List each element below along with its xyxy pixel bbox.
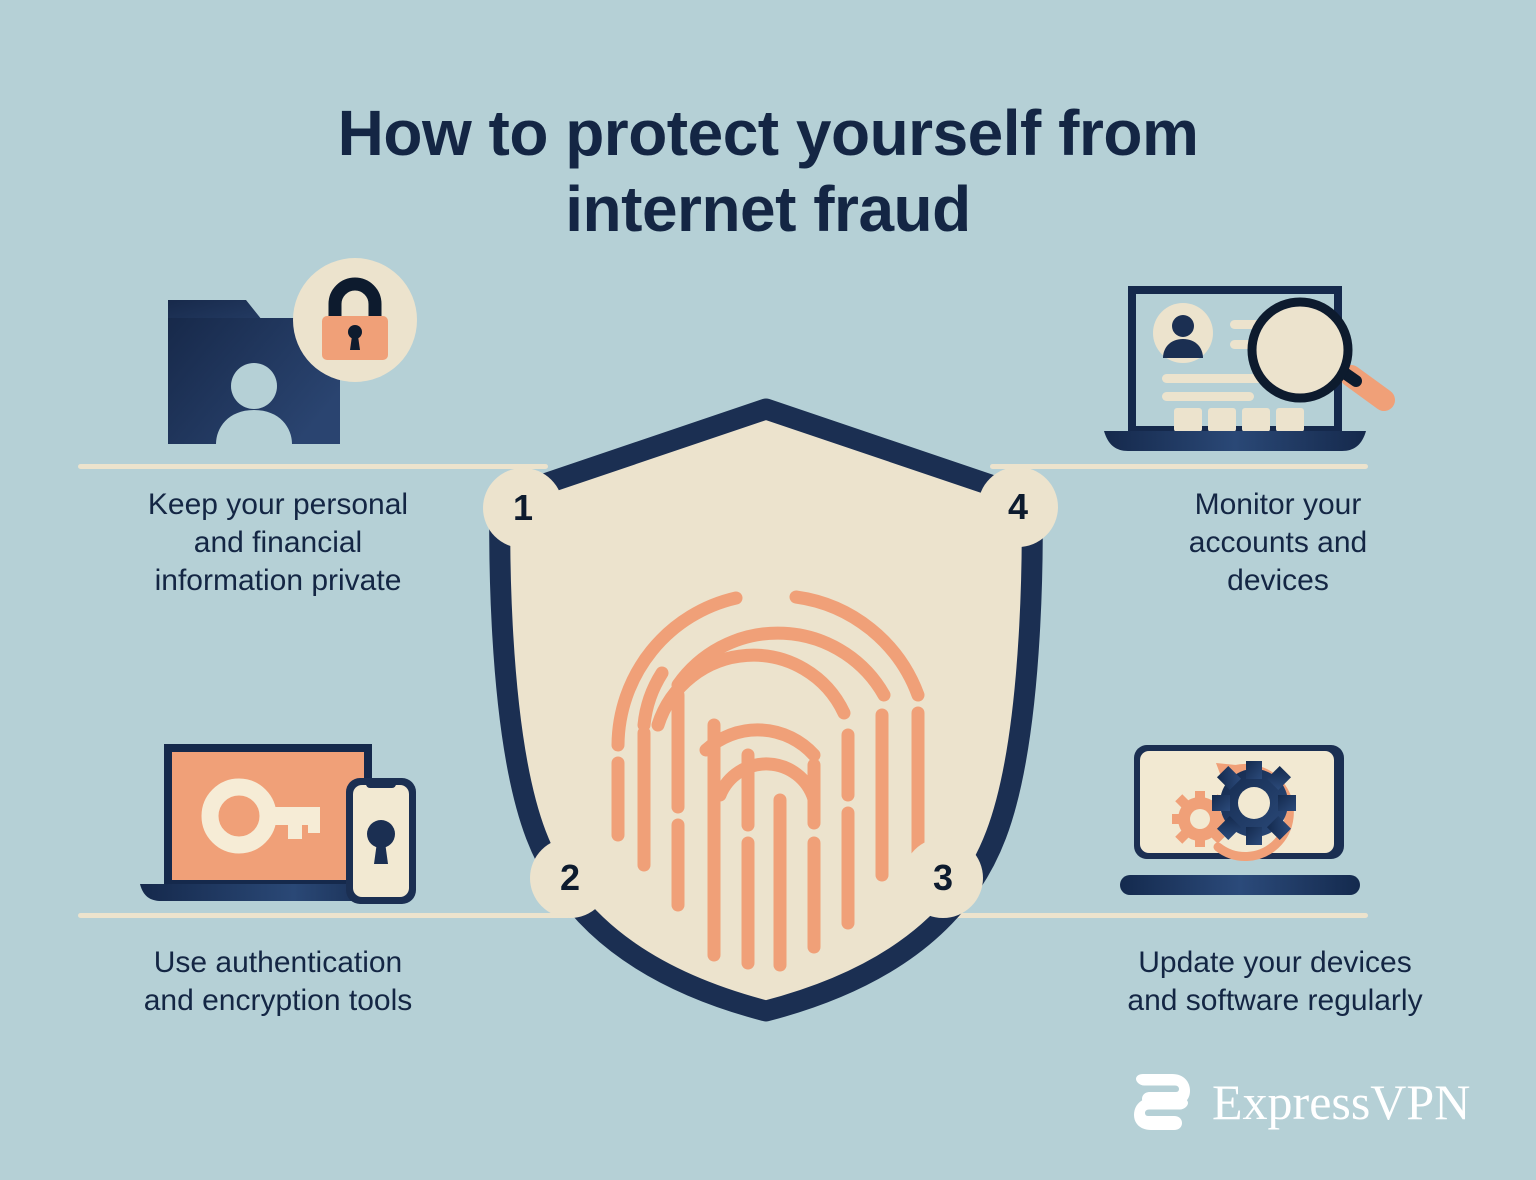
step-label-3-line-1: Update your devices — [1050, 944, 1500, 982]
step-badge-3[interactable]: 3 — [903, 838, 983, 918]
step-label-3-line-2: and software regularly — [1050, 982, 1500, 1020]
step-badge-1-number: 1 — [513, 487, 533, 529]
step-badge-3-number: 3 — [933, 857, 953, 899]
page-title-line-1: How to protect yourself from — [170, 96, 1366, 172]
step-label-3: Update your devices and software regular… — [1050, 944, 1500, 1020]
step-badge-2[interactable]: 2 — [530, 838, 610, 918]
step-label-2-line-2: and encryption tools — [58, 982, 498, 1020]
step-label-1-line-3: information private — [58, 562, 498, 600]
step-label-4-line-2: accounts and — [1058, 524, 1498, 562]
step-label-4-line-3: devices — [1058, 562, 1498, 600]
page-title-line-2: internet fraud — [170, 172, 1366, 248]
step-label-2: Use authentication and encryption tools — [58, 944, 498, 1020]
step-badge-4[interactable]: 4 — [978, 467, 1058, 547]
step-label-1-line-1: Keep your personal — [58, 486, 498, 524]
step-label-1: Keep your personal and financial informa… — [58, 486, 498, 599]
infographic-canvas: How to protect yourself from internet fr… — [0, 0, 1536, 1180]
expressvpn-logo-icon — [1128, 1068, 1196, 1136]
laptop-magnifier-icon — [1088, 278, 1418, 463]
step-label-1-line-2: and financial — [58, 524, 498, 562]
tablet-gears-update-icon — [1098, 733, 1388, 908]
page-title: How to protect yourself from internet fr… — [0, 96, 1536, 247]
step-label-2-line-1: Use authentication — [58, 944, 498, 982]
brand-logo[interactable]: ExpressVPN — [1128, 1068, 1470, 1136]
step-badge-4-number: 4 — [1008, 486, 1028, 528]
step-badge-2-number: 2 — [560, 857, 580, 899]
step-label-4: Monitor your accounts and devices — [1058, 486, 1498, 599]
laptop-phone-key-icon — [128, 738, 448, 913]
brand-name: ExpressVPN — [1212, 1077, 1470, 1127]
step-label-4-line-1: Monitor your — [1058, 486, 1498, 524]
folder-lock-icon — [150, 258, 430, 463]
